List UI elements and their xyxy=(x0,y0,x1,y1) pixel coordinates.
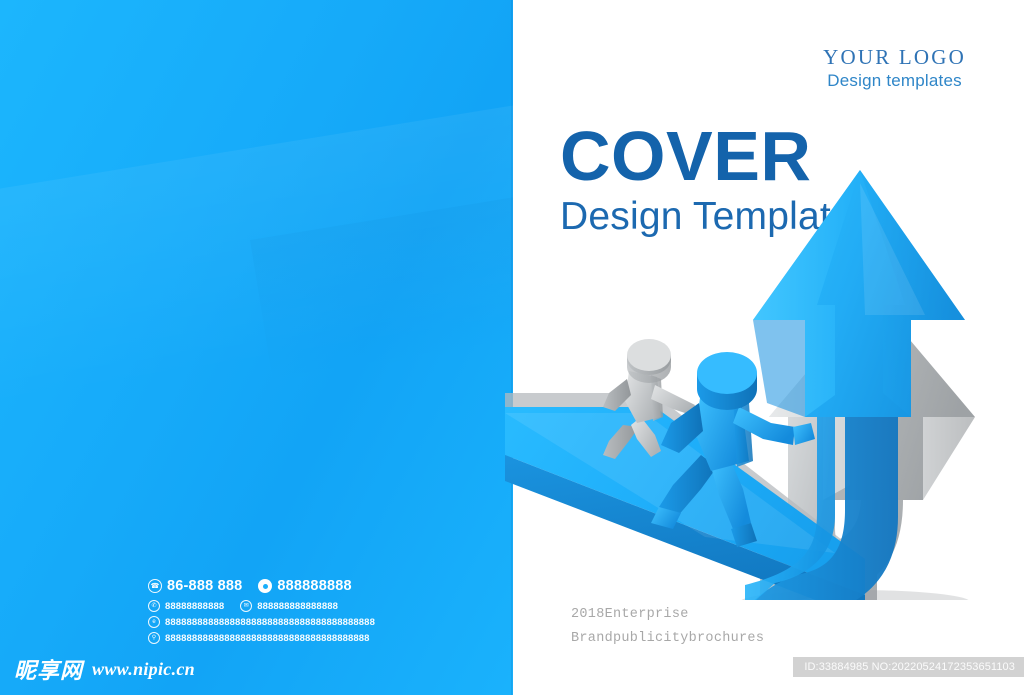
logo-block: YOUR LOGO Design templates xyxy=(823,45,966,91)
globe-icon: e xyxy=(148,616,160,628)
contact-value: 888888888 xyxy=(277,578,351,594)
cover-design-canvas: ☎ 86-888 888 888888888 ✆ 88888888888 ✉ 8… xyxy=(0,0,1024,695)
footnote-line-2: Brandpublicitybrochures xyxy=(571,627,764,651)
contact-value: 88888888888 xyxy=(165,601,224,612)
watermark-url: www.nipic.cn xyxy=(92,659,195,680)
record-dot-icon xyxy=(258,579,272,593)
contact-value: 888888888888888888888888888888888888888 xyxy=(165,617,375,628)
location-pin-icon: ⚲ xyxy=(148,632,160,644)
contact-item-phone: ✆ 88888888888 xyxy=(148,600,224,612)
telephone-icon: ☎ xyxy=(148,579,162,593)
contact-value: 86-888 888 xyxy=(167,578,242,594)
contact-value: 888888888888888 xyxy=(257,601,338,612)
contact-item-website: e 88888888888888888888888888888888888888… xyxy=(148,616,375,628)
diagonal-shadow-band xyxy=(250,176,513,388)
envelope-icon: ✉ xyxy=(240,600,252,612)
contact-row: e 88888888888888888888888888888888888888… xyxy=(148,616,478,628)
contact-row: ☎ 86-888 888 888888888 xyxy=(148,578,478,594)
contact-item-address: ⚲ 88888888888888888888888888888888888888 xyxy=(148,632,370,644)
contact-info-block: ☎ 86-888 888 888888888 ✆ 88888888888 ✉ 8… xyxy=(148,578,478,648)
image-id-badge: ID:33884985 NO:20220524172353651103 xyxy=(793,657,1024,677)
logo-main-text: YOUR LOGO xyxy=(823,45,966,69)
watermark: 昵享网 www.nipic.cn xyxy=(14,653,195,685)
contact-row: ✆ 88888888888 ✉ 888888888888888 xyxy=(148,600,478,612)
contact-item-email: ✉ 888888888888888 xyxy=(240,600,338,612)
contact-value: 88888888888888888888888888888888888888 xyxy=(165,633,370,644)
footnote-line-1: 2018Enterprise xyxy=(571,603,764,627)
contact-item-telephone: ☎ 86-888 888 xyxy=(148,578,242,594)
diagonal-highlight-band xyxy=(0,77,513,420)
footnote-block: 2018Enterprise Brandpublicitybrochures xyxy=(571,603,764,650)
phone-handset-icon: ✆ xyxy=(148,600,160,612)
watermark-brand: 昵享网 xyxy=(14,653,83,685)
logo-sub-text: Design templates xyxy=(823,71,966,91)
arrow-illustration xyxy=(505,155,1024,600)
contact-row: ⚲ 88888888888888888888888888888888888888 xyxy=(148,632,478,644)
contact-item-record: 888888888 xyxy=(258,578,351,594)
